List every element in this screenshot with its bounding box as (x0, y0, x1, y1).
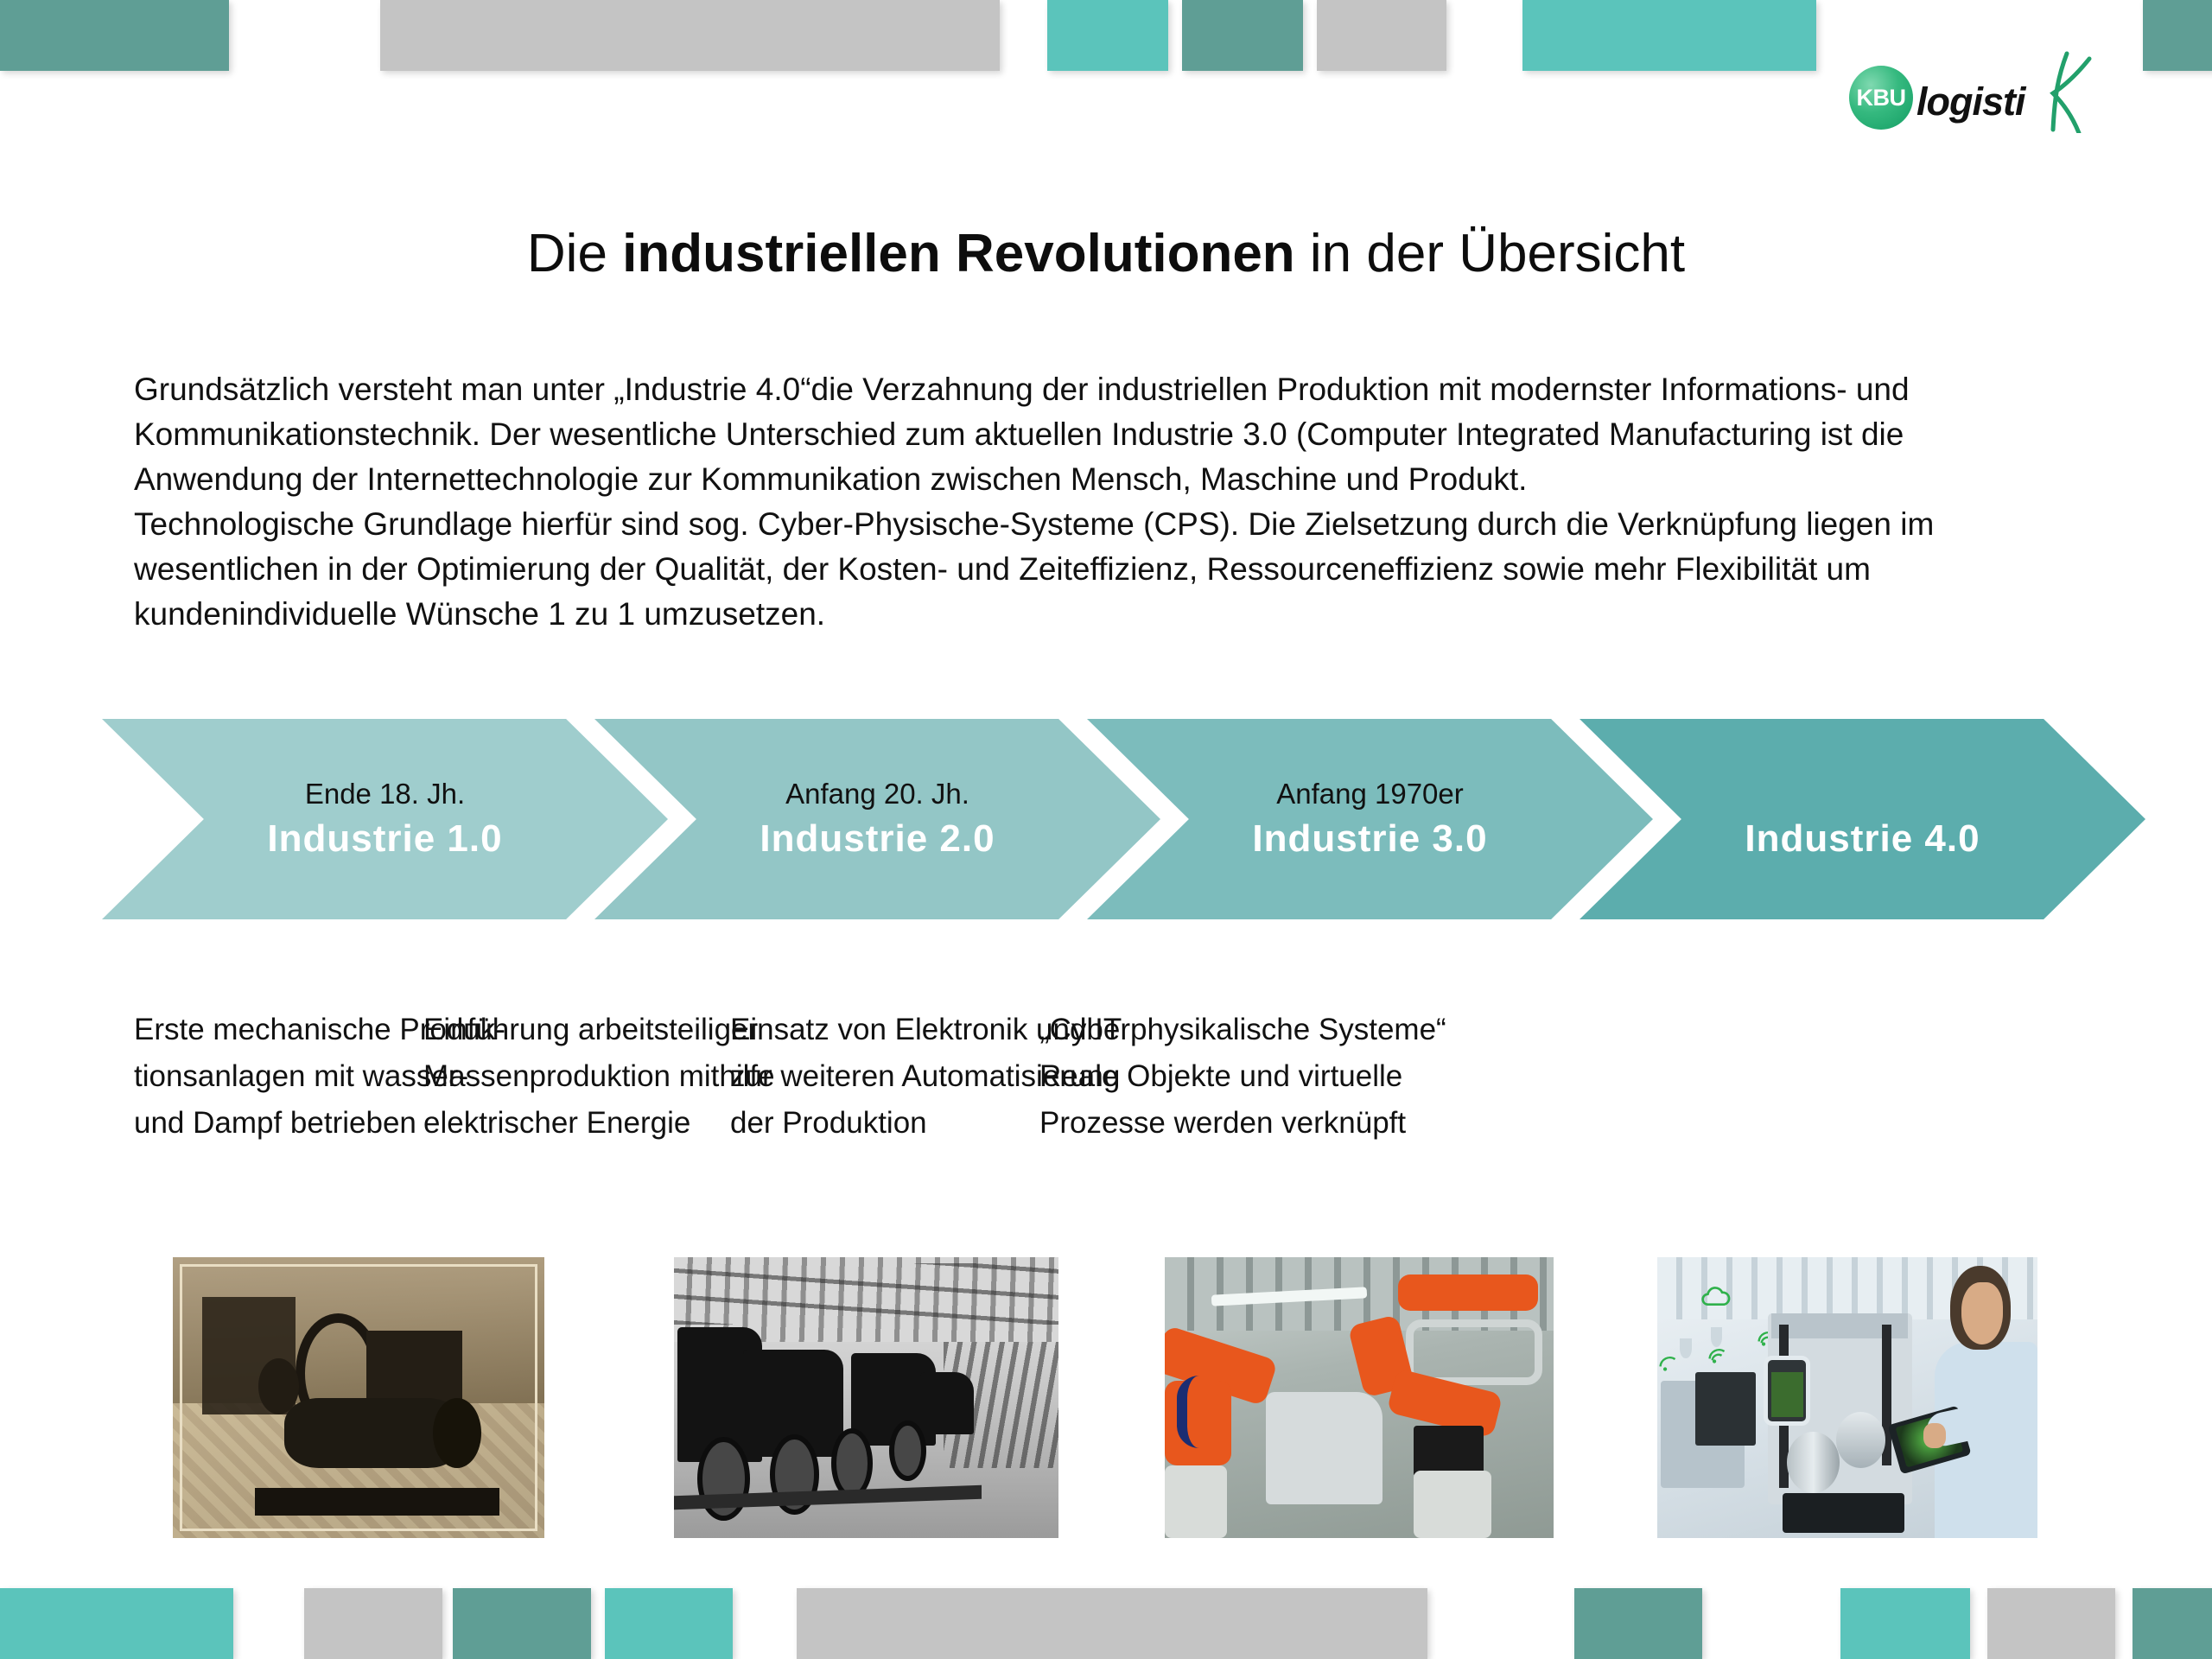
stage-description-2: Einführung arbeitsteiligerMassenprodukti… (423, 1007, 775, 1147)
deco-block (0, 1588, 233, 1659)
intro-line-6: kundenindividuelle Wünsche 1 zu 1 umzuse… (134, 592, 2087, 637)
logo-k-swoosh-icon (2018, 50, 2093, 133)
deco-block (2143, 0, 2212, 71)
deco-block (0, 0, 229, 71)
page-title-suffix: in der Übersicht (1295, 224, 1685, 283)
photo3-cable (1177, 1376, 1223, 1449)
stage-description-line: elektrischer Energie (423, 1100, 775, 1147)
logo-kbu-text: KBU (1849, 66, 1913, 130)
photo2-car (920, 1372, 974, 1434)
deco-block (1522, 0, 1816, 71)
stage-description-line: Reale Objekte und virtuelle (1039, 1053, 1446, 1100)
photo4-technician-face (1961, 1282, 2003, 1344)
stage-name-label: Industrie 2.0 (760, 817, 995, 861)
kbu-logistik-logo: KBU logisti (1849, 50, 2091, 133)
wifi-icon (1707, 1342, 1727, 1367)
photo3-robot-arm (1398, 1274, 1538, 1311)
intro-paragraph: Grundsätzlich versteht man unter „Indust… (134, 367, 2087, 637)
page-title-bold: industriellen Revolutionen (622, 224, 1295, 283)
stage-name-label: Industrie 3.0 (1252, 817, 1487, 861)
deco-block (1047, 0, 1168, 71)
deco-block (380, 0, 1000, 71)
stage-descriptions: Erste mechanische Produk-tionsanlagen mi… (134, 1007, 2121, 1145)
photo4-machine-base (1783, 1493, 1904, 1533)
stage-description-line: Prozesse werden verknüpft (1039, 1100, 1446, 1147)
stage-era-label: Anfang 1970er (1276, 777, 1464, 811)
photo4-hmi-screen (1764, 1356, 1810, 1427)
photo2-wheel (831, 1428, 873, 1497)
photo4-technician-hand (1923, 1423, 1946, 1448)
smart-factory-photo (1657, 1257, 2037, 1538)
stage-photos (0, 1257, 2212, 1542)
stage-name-label: Industrie 4.0 (1745, 817, 1980, 861)
assembly-line-photo (674, 1257, 1058, 1538)
page-title: Die industriellen Revolutionen in der Üb… (0, 223, 2212, 284)
photo4-background-machine (1695, 1372, 1756, 1446)
deco-block (1840, 1588, 1970, 1659)
stage-name-label: Industrie 1.0 (267, 817, 502, 861)
stage-description-line: „Cyberphysikalische Systeme“ (1039, 1007, 1446, 1053)
photo4-lamp (1680, 1338, 1691, 1358)
intro-line-5: wesentlichen in der Optimierung der Qual… (134, 547, 2087, 592)
cloud-icon (1699, 1280, 1733, 1313)
deco-block (605, 1588, 733, 1659)
deco-block (453, 1588, 591, 1659)
industrial-revolution-timeline: Ende 18. Jh.Industrie 1.0Anfang 20. Jh.I… (102, 719, 2124, 919)
photo4-cylinder (1787, 1432, 1840, 1494)
deco-block (2133, 1588, 2212, 1659)
timeline-stage-2[interactable]: Anfang 20. Jh.Industrie 2.0 (594, 719, 1160, 919)
photo2-wheel (889, 1421, 926, 1482)
stage-description-line: Massenproduktion mithilfe (423, 1053, 775, 1100)
wifi-icon (1657, 1350, 1678, 1375)
photo4-valve (1836, 1412, 1885, 1468)
photo3-robot-base (1414, 1471, 1491, 1538)
steam-engine-photo (173, 1257, 544, 1538)
photo3-car-body (1266, 1392, 1382, 1504)
intro-line-3: Anwendung der Internettechnologie zur Ko… (134, 457, 2087, 502)
photo1-frame (180, 1264, 537, 1531)
page-title-prefix: Die (527, 224, 622, 283)
industrial-robots-photo (1165, 1257, 1554, 1538)
deco-block (1182, 0, 1303, 71)
stage-era-label: Anfang 20. Jh. (785, 777, 969, 811)
stage-description-line: Einführung arbeitsteiliger (423, 1007, 775, 1053)
photo3-robot-base (1165, 1465, 1227, 1539)
deco-block (1987, 1588, 2115, 1659)
deco-block (1317, 0, 1446, 71)
photo3-robot-drum (1414, 1426, 1484, 1477)
deco-block (1574, 1588, 1702, 1659)
bottom-decorative-bar (0, 1588, 2212, 1659)
stage-description-4: „Cyberphysikalische Systeme“Reale Objekt… (1039, 1007, 1446, 1147)
timeline-stage-4[interactable]: Industrie 4.0 (1580, 719, 2145, 919)
logo-wordmark: logisti (1916, 79, 2025, 124)
intro-line-2: Kommunikationstechnik. Der wesentliche U… (134, 412, 2087, 457)
deco-block (304, 1588, 442, 1659)
timeline-stage-1[interactable]: Ende 18. Jh.Industrie 1.0 (102, 719, 668, 919)
deco-block (797, 1588, 1427, 1659)
intro-line-1: Grundsätzlich versteht man unter „Indust… (134, 367, 2087, 412)
intro-line-4: Technologische Grundlage hierfür sind so… (134, 502, 2087, 547)
stage-era-label: Ende 18. Jh. (305, 777, 465, 811)
photo2-beams (674, 1263, 1058, 1325)
timeline-stage-3[interactable]: Anfang 1970erIndustrie 3.0 (1087, 719, 1653, 919)
